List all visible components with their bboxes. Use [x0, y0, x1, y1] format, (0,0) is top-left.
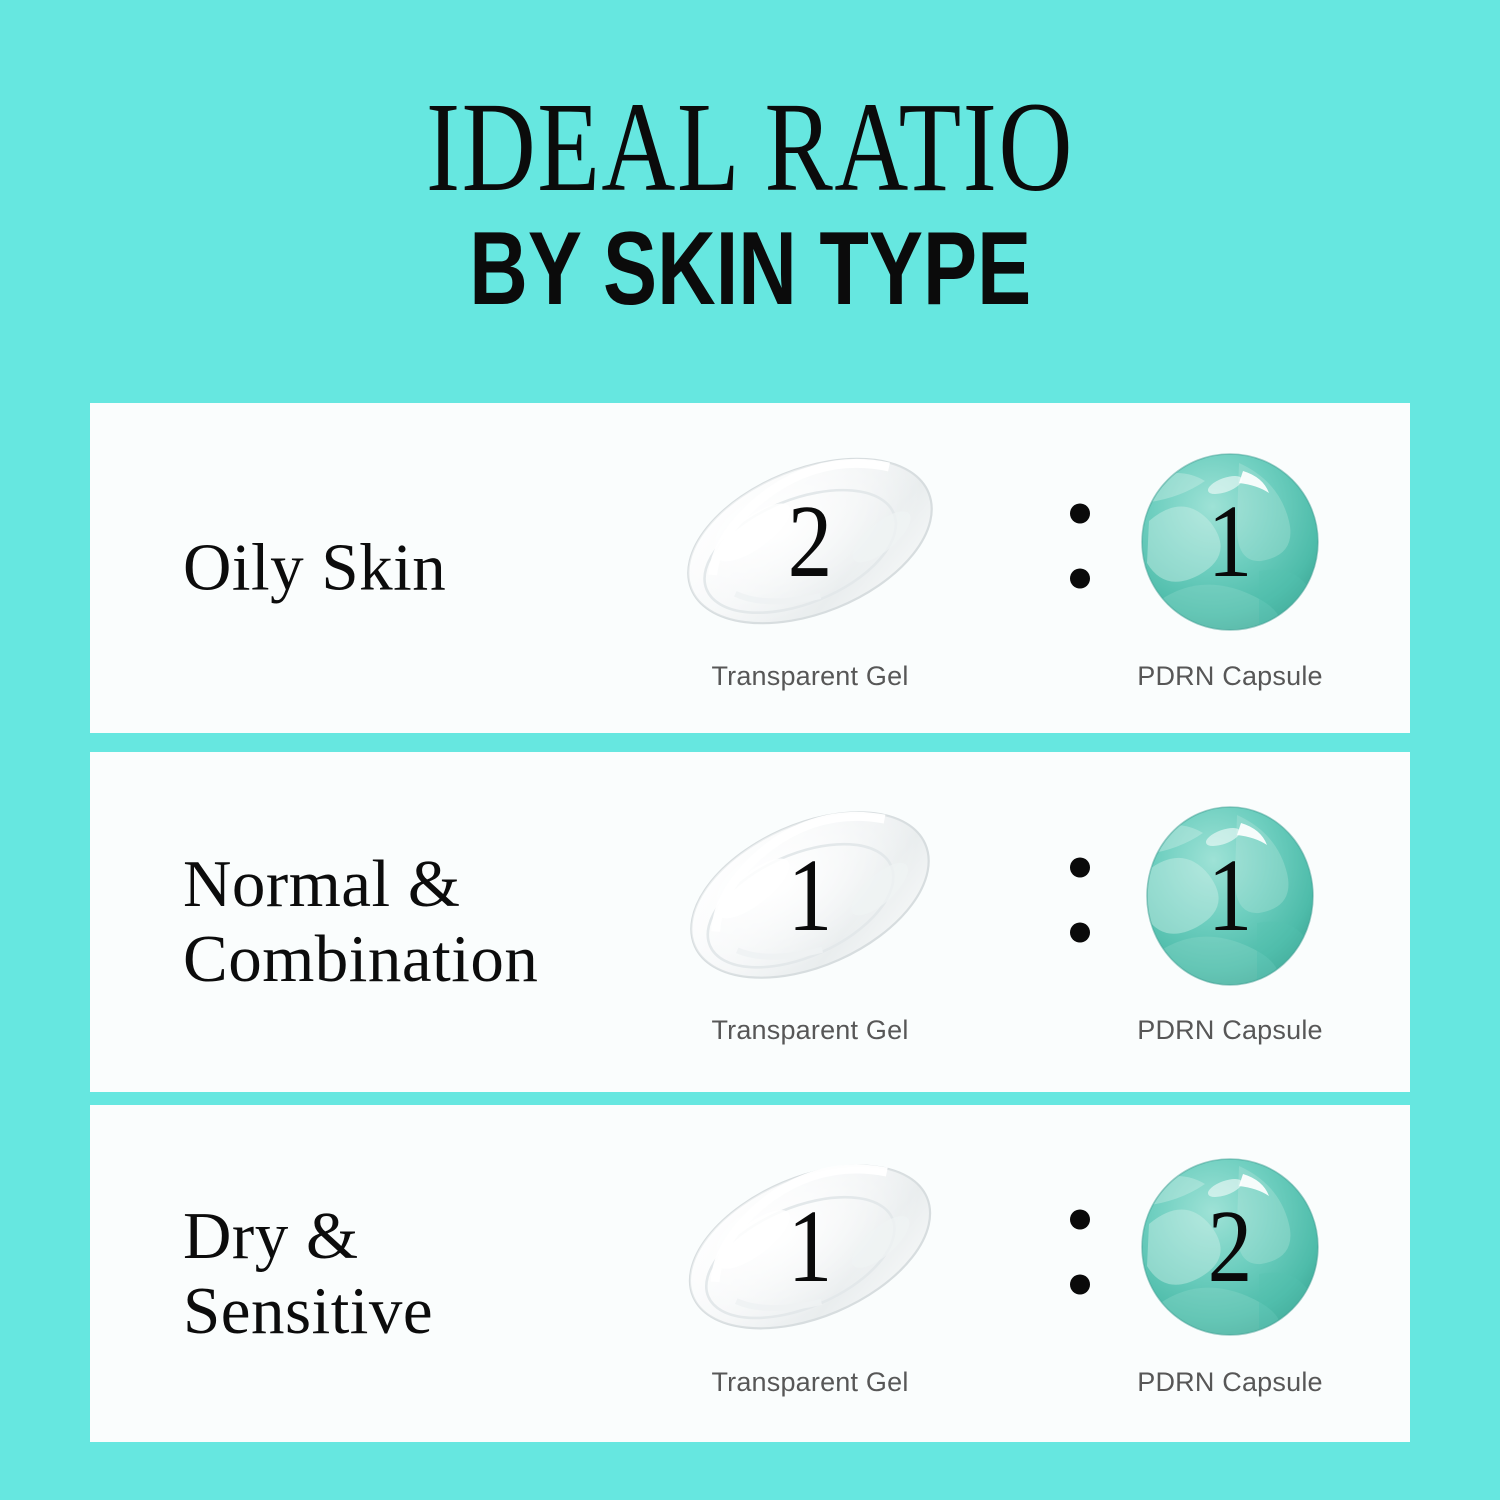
ratio-card-dry-sensitive: Dry & Sensitive [90, 1105, 1410, 1442]
gel-column: 2 Transparent Gel [660, 444, 960, 692]
gel-label: Transparent Gel [711, 661, 908, 692]
skin-type-label: Normal & Combination [183, 847, 538, 997]
capsule-art: 2 [1093, 1150, 1368, 1345]
capsule-label: PDRN Capsule [1137, 661, 1322, 692]
ratio-card-oily: Oily Skin [90, 403, 1410, 733]
skin-type-label: Oily Skin [183, 530, 446, 605]
capsule-column: 2 PDRN Capsule [1080, 1150, 1380, 1398]
page-header: IDEAL RATIO BY SKIN TYPE [0, 0, 1500, 403]
gel-value: 2 [788, 490, 833, 594]
capsule-art: 1 [1093, 798, 1368, 993]
capsule-label: PDRN Capsule [1137, 1367, 1322, 1398]
page-title-line2: BY SKIN TYPE [469, 217, 1031, 321]
capsule-value: 1 [1208, 490, 1253, 594]
gel-value: 1 [788, 1195, 833, 1299]
gel-value: 1 [788, 844, 833, 948]
gel-label: Transparent Gel [711, 1367, 908, 1398]
capsule-value: 2 [1208, 1195, 1253, 1299]
ratio-group: 1 Transparent Gel [650, 1105, 1410, 1442]
gel-column: 1 Transparent Gel [660, 1150, 960, 1398]
ratio-group: 2 Transparent Gel [650, 403, 1410, 733]
ratio-card-normal-combination: Normal & Combination [90, 752, 1410, 1092]
gel-art: 1 [673, 1150, 948, 1345]
capsule-value: 1 [1208, 844, 1253, 948]
page-title-line1: IDEAL RATIO [426, 83, 1074, 211]
capsule-art: 1 [1093, 444, 1368, 639]
gel-art: 2 [673, 444, 948, 639]
capsule-column: 1 PDRN Capsule [1080, 798, 1380, 1046]
ratio-group: 1 Transparent Gel [650, 752, 1410, 1092]
gel-column: 1 Transparent Gel [660, 798, 960, 1046]
capsule-column: 1 PDRN Capsule [1080, 444, 1380, 692]
gel-label: Transparent Gel [711, 1015, 908, 1046]
capsule-label: PDRN Capsule [1137, 1015, 1322, 1046]
ratio-card-list: Oily Skin [90, 403, 1410, 1442]
skin-type-label: Dry & Sensitive [183, 1198, 433, 1348]
gel-art: 1 [673, 798, 948, 993]
